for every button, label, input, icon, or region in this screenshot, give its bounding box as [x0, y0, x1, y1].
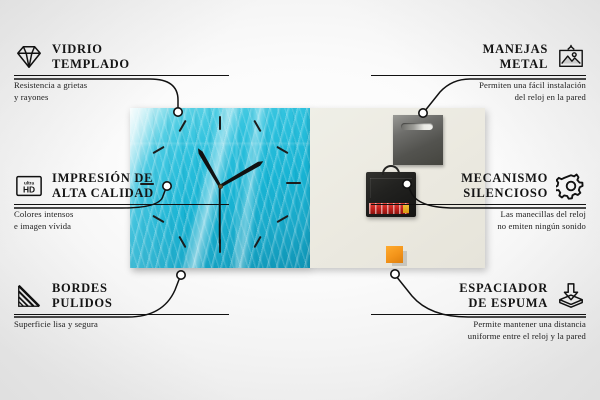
callout-header: VIDRIO TEMPLADO: [14, 42, 229, 75]
callout-title: MECANISMO SILENCIOSO: [461, 171, 548, 201]
callout-header: ESPACIADOR DE ESPUMA: [371, 281, 586, 314]
leader-dot-bordes: [177, 271, 185, 279]
callout-manejas-metal: MANEJAS METAL Permiten una fácil instala…: [371, 42, 586, 103]
callout-title: ESPACIADOR DE ESPUMA: [459, 281, 548, 311]
callout-divider: [371, 204, 586, 206]
orange-foam-spacer: [386, 246, 403, 263]
svg-text:HD: HD: [23, 184, 35, 194]
callout-divider: [14, 314, 229, 316]
callout-divider: [371, 314, 586, 316]
callout-divider: [371, 75, 586, 77]
callout-description: Permite mantener una distancia uniforme …: [371, 319, 586, 342]
wall-hanging-frame-icon: [556, 43, 586, 71]
callout-header: MECANISMO SILENCIOSO: [371, 171, 586, 204]
callout-divider: [14, 204, 229, 206]
callout-espaciador-espuma: ESPACIADOR DE ESPUMA Permite mantener un…: [371, 281, 586, 342]
callout-header: ultra HD IMPRESIÓN DE ALTA CALIDAD: [14, 171, 229, 204]
callout-title: VIDRIO TEMPLADO: [52, 42, 130, 72]
metal-hanger-plate: [393, 115, 443, 165]
callout-vidrio-templado: VIDRIO TEMPLADO Resistencia a grietas y …: [14, 42, 229, 103]
hanger-keyhole-slot: [401, 123, 433, 130]
callout-divider: [14, 75, 229, 77]
callout-mecanismo-silencioso: MECANISMO SILENCIOSO Las manecillas del …: [371, 171, 586, 232]
callout-description: Resistencia a grietas y rayones: [14, 80, 229, 103]
callout-impresion-alta-calidad: ultra HD IMPRESIÓN DE ALTA CALIDAD Color…: [14, 171, 229, 232]
diamond-icon: [14, 43, 44, 71]
callout-title: IMPRESIÓN DE ALTA CALIDAD: [52, 171, 154, 201]
foam-spacer-arrow-icon: [556, 282, 586, 310]
callout-title: MANEJAS METAL: [483, 42, 548, 72]
callout-header: BORDES PULIDOS: [14, 281, 229, 314]
polished-edges-icon: [14, 282, 44, 310]
callout-description: Colores intensos e imagen vívida: [14, 209, 229, 232]
callout-description: Las manecillas del reloj no emiten ningú…: [371, 209, 586, 232]
callout-description: Superficie lisa y segura: [14, 319, 229, 331]
ultra-hd-icon: ultra HD: [14, 172, 44, 200]
callout-bordes-pulidos: BORDES PULIDOS Superficie lisa y segura: [14, 281, 229, 331]
infographic-canvas: VIDRIO TEMPLADO Resistencia a grietas y …: [0, 0, 600, 400]
callout-description: Permiten una fácil instalación del reloj…: [371, 80, 586, 103]
callout-title: BORDES PULIDOS: [52, 281, 112, 311]
hour-tick-12: [219, 116, 221, 130]
gear-icon: [556, 172, 586, 200]
callout-header: MANEJAS METAL: [371, 42, 586, 75]
leader-dot-espaciador: [391, 270, 399, 278]
